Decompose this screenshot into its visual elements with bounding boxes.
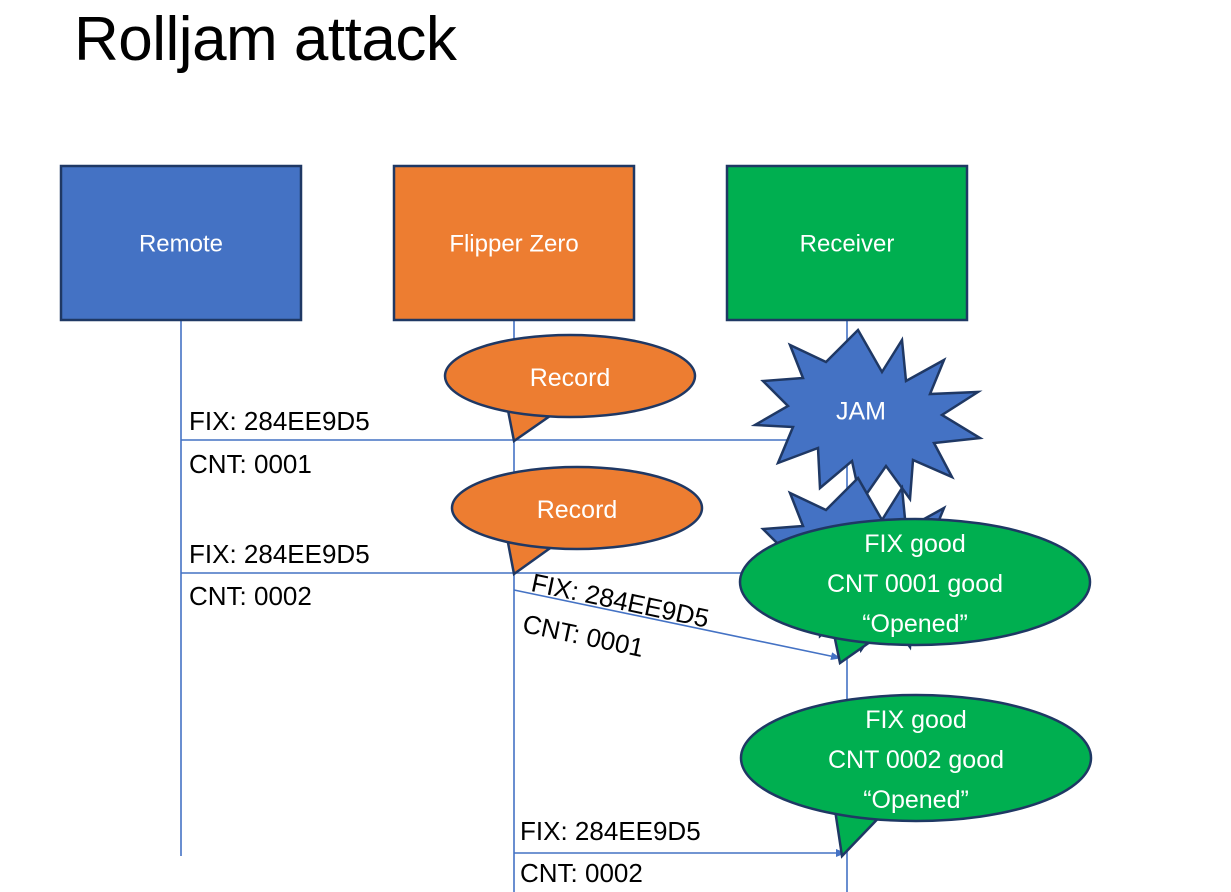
callout-label-record-2: Record <box>537 496 618 524</box>
message-label-4-line1: FIX: 284EE9D5 <box>520 816 701 846</box>
actor-label-receiver: Receiver <box>800 230 895 257</box>
message-label-2-line2: CNT: 0002 <box>189 581 312 611</box>
slide-canvas: Rolljam attack Remote Flipp <box>0 0 1231 892</box>
message-label-1-line2: CNT: 0001 <box>189 449 312 479</box>
actor-remote[interactable]: Remote <box>61 166 301 320</box>
result-line-3: “Opened” <box>863 786 969 814</box>
diagram-svg: Remote Flipper Zero Receiver JAM Record <box>0 0 1231 892</box>
message-label-1-line1: FIX: 284EE9D5 <box>189 406 370 436</box>
jam-burst-1[interactable]: JAM <box>755 330 980 502</box>
result-callout-2[interactable]: FIX good CNT 0002 good “Opened” <box>741 695 1091 856</box>
jam-label-1: JAM <box>836 398 886 426</box>
result-line-2: CNT 0001 good <box>827 570 1003 598</box>
callout-record-1[interactable]: Record <box>445 335 695 441</box>
actor-label-flipper: Flipper Zero <box>449 230 578 257</box>
result-line-3: “Opened” <box>862 610 968 638</box>
message-label-4-line2: CNT: 0002 <box>520 858 643 888</box>
actor-receiver[interactable]: Receiver <box>727 166 967 320</box>
result-callout-1[interactable]: FIX good CNT 0001 good “Opened” <box>740 519 1090 663</box>
actor-flipper[interactable]: Flipper Zero <box>394 166 634 320</box>
actor-label-remote: Remote <box>139 230 223 257</box>
result-line-1: FIX good <box>865 706 966 734</box>
result-line-2: CNT 0002 good <box>828 746 1004 774</box>
message-label-2-line1: FIX: 284EE9D5 <box>189 539 370 569</box>
result-line-1: FIX good <box>864 530 965 558</box>
callout-label-record-1: Record <box>530 364 611 392</box>
callout-record-2[interactable]: Record <box>452 467 702 574</box>
